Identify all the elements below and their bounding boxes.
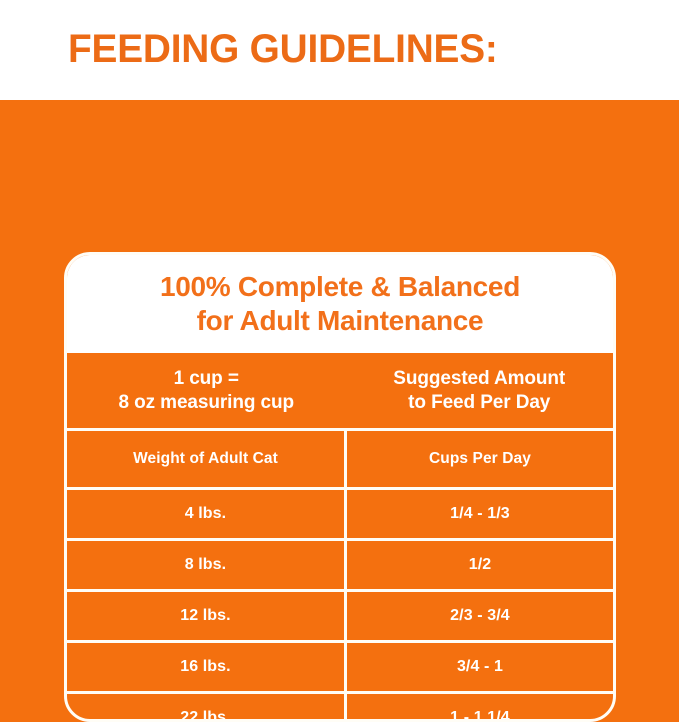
cell-weight: 4 lbs.	[67, 489, 345, 540]
cup-definition-line-2: 8 oz measuring cup	[67, 391, 345, 415]
table-row: 22 lbs. 1 - 1 1/4	[67, 693, 613, 722]
cell-cups: 2/3 - 3/4	[345, 591, 613, 642]
suggested-amount-line-1: Suggested Amount	[345, 367, 613, 391]
cell-cups: 1/4 - 1/3	[345, 489, 613, 540]
table-top-header-row: 1 cup = 8 oz measuring cup Suggested Amo…	[67, 353, 613, 430]
feeding-guidelines-card: 100% Complete & Balanced for Adult Maint…	[64, 252, 616, 722]
suggested-amount-cell: Suggested Amount to Feed Per Day	[345, 353, 613, 430]
suggested-amount-line-2: to Feed Per Day	[345, 391, 613, 415]
cell-cups: 3/4 - 1	[345, 642, 613, 693]
column-header-weight: Weight of Adult Cat	[67, 430, 345, 489]
cell-weight: 8 lbs.	[67, 540, 345, 591]
card-heading-line-2: for Adult Maintenance	[197, 304, 484, 338]
table-row: 4 lbs. 1/4 - 1/3	[67, 489, 613, 540]
cell-weight: 12 lbs.	[67, 591, 345, 642]
table-column-header-row: Weight of Adult Cat Cups Per Day	[67, 430, 613, 489]
cell-weight: 22 lbs.	[67, 693, 345, 722]
card-heading-line-1: 100% Complete & Balanced	[160, 270, 520, 304]
cup-definition-cell: 1 cup = 8 oz measuring cup	[67, 353, 345, 430]
cup-definition-line-1: 1 cup =	[67, 367, 345, 391]
cell-cups: 1/2	[345, 540, 613, 591]
page-title: FEEDING GUIDELINES:	[68, 27, 498, 71]
cell-cups: 1 - 1 1/4	[345, 693, 613, 722]
table-row: 12 lbs. 2/3 - 3/4	[67, 591, 613, 642]
feeding-table: 1 cup = 8 oz measuring cup Suggested Amo…	[67, 353, 613, 722]
page-header-band: FEEDING GUIDELINES:	[0, 0, 679, 100]
table-row: 8 lbs. 1/2	[67, 540, 613, 591]
feeding-guidelines-body: 100% Complete & Balanced for Adult Maint…	[0, 100, 679, 679]
table-row: 16 lbs. 3/4 - 1	[67, 642, 613, 693]
cell-weight: 16 lbs.	[67, 642, 345, 693]
card-heading: 100% Complete & Balanced for Adult Maint…	[67, 255, 613, 353]
column-header-cups: Cups Per Day	[345, 430, 613, 489]
